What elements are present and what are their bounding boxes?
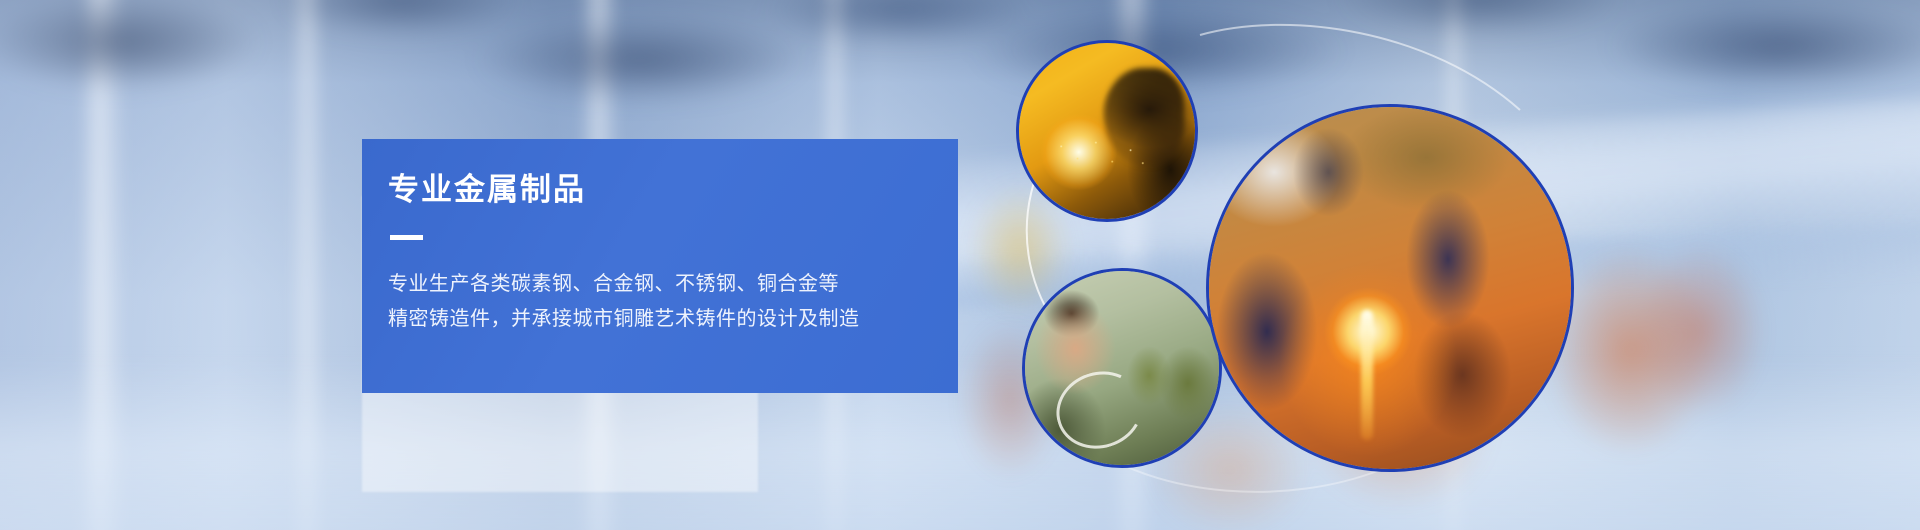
panel-description: 专业生产各类碳素钢、合金钢、不锈钢、铜合金等 精密铸造件，并承接城市铜雕艺术铸件…	[388, 266, 958, 336]
hero-banner: 专业金属制品 专业生产各类碳素钢、合金钢、不锈钢、铜合金等 精密铸造件，并承接城…	[0, 0, 1920, 530]
molten-metal-stream	[1361, 310, 1373, 440]
promo-text-panel: 专业金属制品 专业生产各类碳素钢、合金钢、不锈钢、铜合金等 精密铸造件，并承接城…	[362, 139, 958, 393]
promo-text-inner: 专业金属制品 专业生产各类碳素钢、合金钢、不锈钢、铜合金等 精密铸造件，并承接城…	[374, 173, 958, 336]
title-divider-rule	[390, 235, 423, 240]
photo-circle-welding	[1016, 40, 1198, 222]
weld-sparks-shape	[1051, 135, 1153, 174]
panel-title: 专业金属制品	[388, 173, 958, 207]
panel-description-line-1: 专业生产各类碳素钢、合金钢、不锈钢、铜合金等	[388, 266, 958, 301]
photo-circle-inspection	[1022, 268, 1222, 468]
photo-circle-foundry	[1206, 104, 1574, 472]
panel-description-line-2: 精密铸造件，并承接城市铜雕艺术铸件的设计及制造	[388, 301, 958, 336]
foundry-photo	[1209, 107, 1571, 469]
